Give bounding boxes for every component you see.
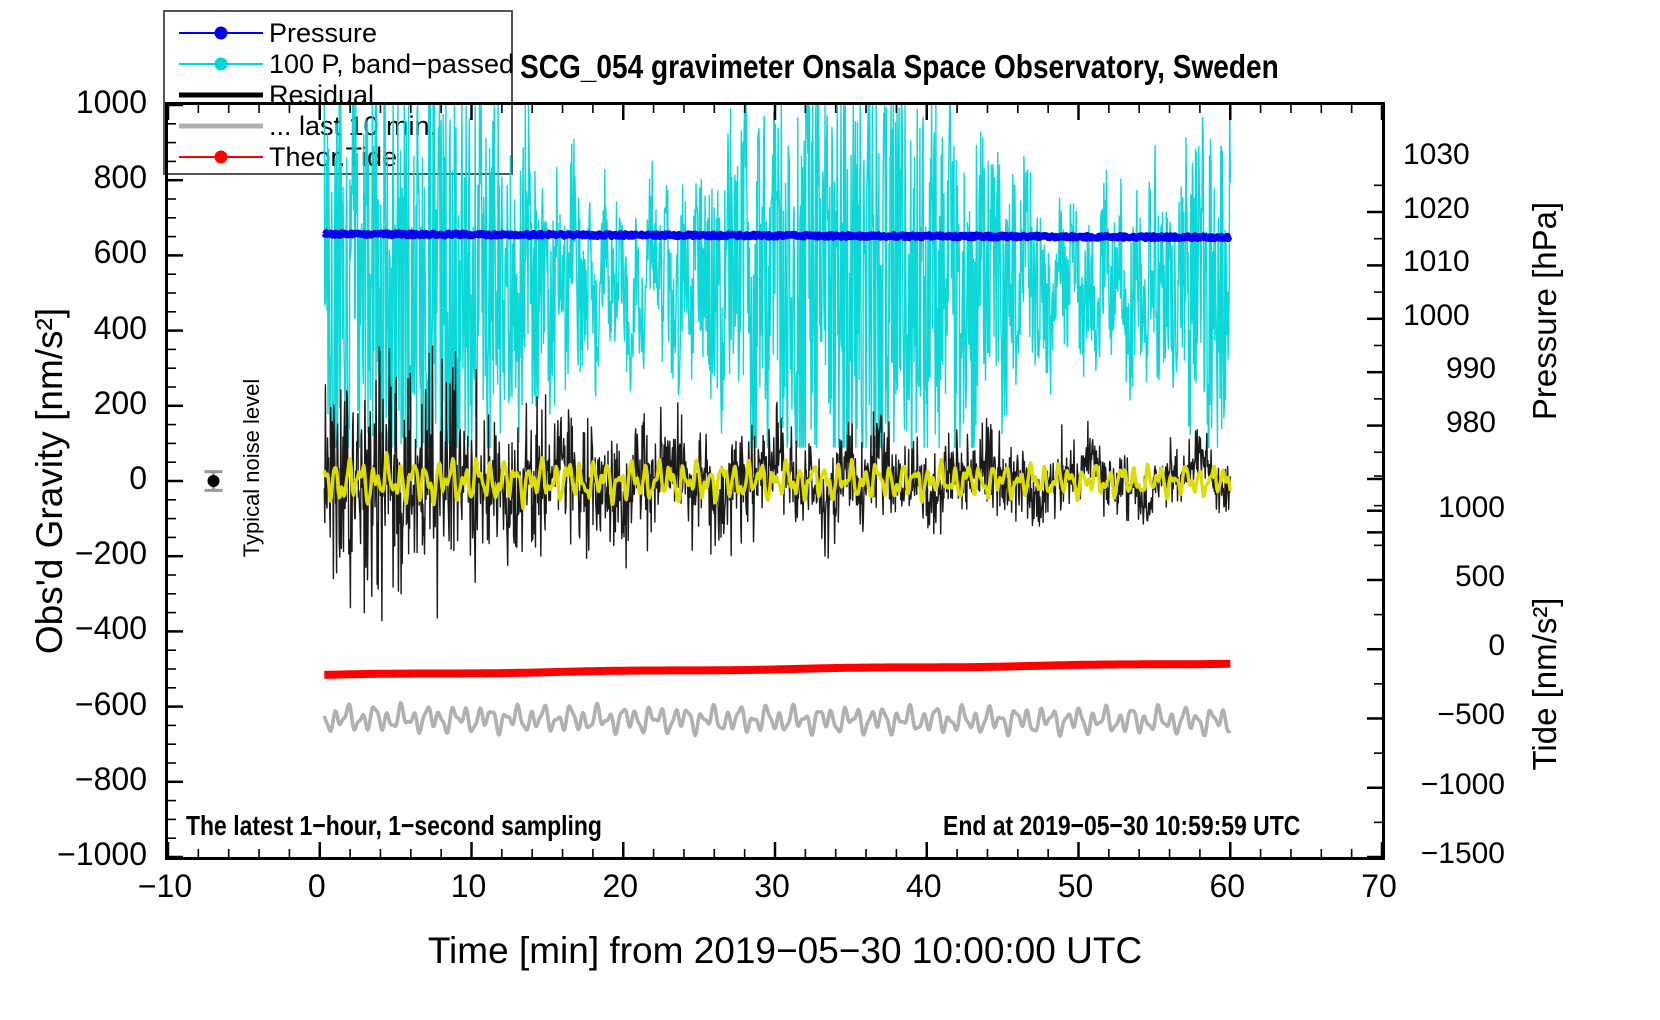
x-tick-label: 10 [409, 868, 529, 905]
legend-marker-icon [215, 27, 228, 40]
y-tick-label: −200 [17, 535, 147, 572]
y-tick-label: 800 [17, 159, 147, 196]
x-tick-label: 50 [1016, 868, 1136, 905]
tide-tick-label: −1000 [1403, 768, 1505, 802]
y-tick-label: 1000 [17, 84, 147, 121]
chart-title: SCG_054 gravimeter Onsala Space Observat… [520, 48, 1279, 86]
tide-tick-label: 1000 [1403, 491, 1505, 525]
x-tick-label: 0 [257, 868, 377, 905]
x-tick-label: −10 [105, 868, 225, 905]
pressure-tick-label: 1000 [1403, 299, 1513, 333]
y-tick-label: −600 [17, 686, 147, 723]
x-tick-label: 70 [1319, 868, 1439, 905]
tide-tick-label: −500 [1403, 698, 1505, 732]
y-tick-label: −800 [17, 761, 147, 798]
pressure-tick-label: 980 [1403, 406, 1496, 440]
y-tick-label: 200 [17, 385, 147, 422]
y-axis-title-tide: Tide [nm/s²] [1526, 449, 1564, 919]
x-axis-title: Time [min] from 2019−05−30 10:00:00 UTC [180, 930, 1390, 972]
x-tick-label: 30 [712, 868, 832, 905]
legend-item[interactable]: Pressure [165, 18, 511, 48]
y-tick-label: −400 [17, 610, 147, 647]
pressure-tick-label: 1020 [1403, 192, 1513, 226]
legend-label: 100 P, band−passed [269, 49, 514, 80]
legend-swatch-icon [173, 18, 269, 48]
pressure-tick-label: 990 [1403, 352, 1496, 386]
x-tick-label: 20 [560, 868, 680, 905]
y-tick-label: 600 [17, 234, 147, 271]
legend-marker-icon [215, 58, 228, 71]
chart-root: Obs'd Gravity [nm/s²] Pressure [hPa] Tid… [0, 0, 1660, 1020]
data-traces [168, 105, 1382, 857]
x-tick-label: 40 [864, 868, 984, 905]
noise-level-marker [205, 472, 223, 491]
y-tick-label: 400 [17, 310, 147, 347]
tide-tick-label: −1500 [1403, 837, 1505, 871]
annotation-sampling: The latest 1−hour, 1−second sampling [186, 810, 602, 842]
tide-tick-label: 0 [1403, 629, 1505, 663]
y-tick-label: 0 [17, 460, 147, 497]
tide-tick-label: 500 [1403, 560, 1505, 594]
pressure-tick-label: 1030 [1403, 138, 1513, 172]
annotation-end-time: End at 2019−05−30 10:59:59 UTC [943, 810, 1300, 842]
plot-area [165, 102, 1385, 860]
legend-item[interactable]: 100 P, band−passed [165, 49, 511, 79]
legend-label: Pressure [269, 18, 377, 49]
legend-swatch-icon [173, 49, 269, 79]
pressure-tick-label: 1010 [1403, 245, 1513, 279]
x-tick-label: 60 [1167, 868, 1287, 905]
